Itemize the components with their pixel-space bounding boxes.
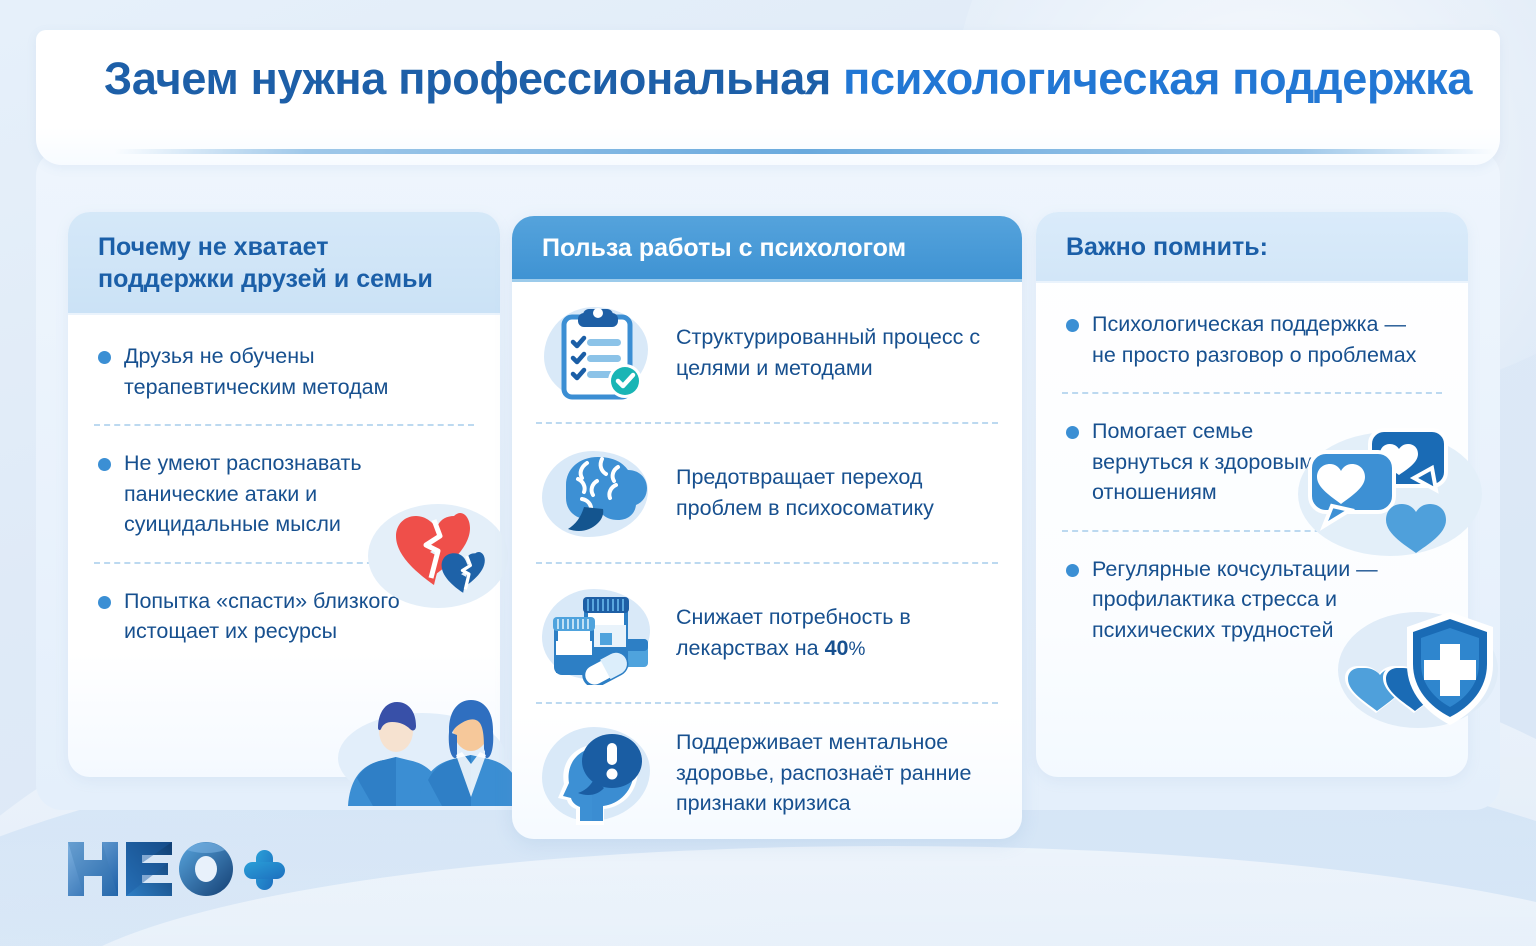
bullet-dot-icon	[1066, 319, 1079, 332]
middle-column-list: Структурированный процесс с целями и мет…	[512, 282, 1022, 839]
middle-column-heading: Польза работы с психологом	[542, 233, 992, 263]
list-item-value: 40	[825, 636, 849, 660]
list-item-label: Попытка «спасти» близкого истощает их ре…	[124, 586, 454, 647]
right-column-list: Психологическая поддержка — не просто ра…	[1036, 283, 1468, 667]
left-column-header: Почему не хватает поддержки друзей и сем…	[68, 212, 500, 315]
bullet-dot-icon	[1066, 564, 1079, 577]
list-item-label: Помогает семье вернуться к здоровым отно…	[1092, 416, 1327, 508]
right-column-heading: Важно помнить:	[1066, 232, 1438, 263]
list-item[interactable]: Не умеют распознавать панические атаки и…	[94, 424, 474, 562]
list-item[interactable]: Друзья не обучены терапевтическим метода…	[94, 319, 474, 424]
medicine-bottles-icon	[542, 581, 660, 685]
list-item-label: Регулярные кочсультации — профилактика с…	[1092, 554, 1422, 646]
right-column-card: Важно помнить: Психологическая поддержка…	[1036, 212, 1468, 777]
list-item[interactable]: Психологическая поддержка — не просто ра…	[1062, 287, 1442, 392]
middle-column-header: Польза работы с психологом	[512, 216, 1022, 282]
list-item[interactable]: Структурированный процесс с целями и мет…	[536, 284, 998, 422]
brain-icon	[542, 441, 660, 545]
middle-column-card: Польза работы с психологом	[512, 216, 1022, 839]
left-column-list: Друзья не обучены терапевтическим метода…	[68, 315, 500, 669]
title-divider	[114, 149, 1494, 154]
logo: НЕО+	[66, 838, 296, 900]
list-item[interactable]: Предотвращает переход проблем в психосом…	[536, 422, 998, 562]
logo-neo-plus-icon	[66, 838, 296, 900]
list-item-label: Снижает потребность в лекарствах на 40%	[676, 602, 998, 663]
left-column-heading: Почему не хватает поддержки друзей и сем…	[98, 232, 470, 295]
page-background: Зачем нужна профессиональная психологиче…	[0, 0, 1536, 946]
list-item[interactable]: Поддерживает ментальное здоровье, распоз…	[536, 702, 998, 839]
list-item[interactable]: Регулярные кочсультации — профилактика с…	[1062, 530, 1442, 668]
list-item-label: Структурированный процесс с целями и мет…	[676, 322, 998, 383]
bullet-dot-icon	[98, 458, 111, 471]
right-column-header: Важно помнить:	[1036, 212, 1468, 283]
bullet-dot-icon	[1066, 426, 1079, 439]
list-item-label: Предотвращает переход проблем в психосом…	[676, 462, 998, 523]
list-item[interactable]: Помогает семье вернуться к здоровым отно…	[1062, 392, 1442, 530]
list-item-label: Не умеют распознавать панические атаки и…	[124, 448, 454, 540]
list-item[interactable]: Снижает потребность в лекарствах на 40%	[536, 562, 998, 702]
list-item-label: Друзья не обучены терапевтическим метода…	[124, 341, 454, 402]
left-column-card: Почему не хватает поддержки друзей и сем…	[68, 212, 500, 777]
page-title: Зачем нужна профессиональная психологиче…	[104, 56, 1472, 101]
bullet-dot-icon	[98, 351, 111, 364]
bullet-dot-icon	[98, 596, 111, 609]
list-item-text-before: Снижает потребность в лекарствах на	[676, 605, 911, 660]
list-item-unit: %	[848, 639, 865, 660]
list-item[interactable]: Попытка «спасти» близкого истощает их ре…	[94, 562, 474, 669]
head-alert-icon	[542, 721, 660, 825]
clipboard-checklist-icon	[542, 301, 660, 405]
list-item-label: Поддерживает ментальное здоровье, распоз…	[676, 727, 998, 819]
list-item-label: Психологическая поддержка — не просто ра…	[1092, 309, 1422, 370]
page-title-part2: психологическая поддержка	[843, 53, 1472, 104]
page-title-part1: Зачем нужна профессиональная	[104, 53, 843, 104]
title-card: Зачем нужна профессиональная психологиче…	[36, 30, 1500, 165]
